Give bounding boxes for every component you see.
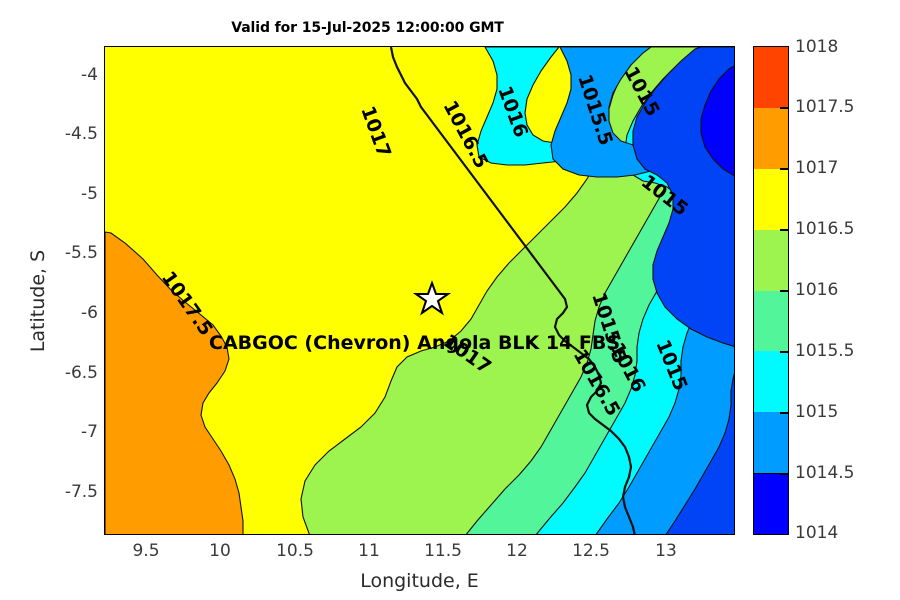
colorbar-tick-label: 1016.5 <box>795 219 854 239</box>
colorbar-tick-label: 1017 <box>795 158 838 178</box>
x-tick: 9.5 <box>132 541 159 561</box>
colorbar-tick <box>780 290 789 292</box>
y-axis-ticks: -4 -4.5 -5 -5.5 -6 -6.5 -7 -7.5 <box>0 0 98 600</box>
colorbar-segment <box>754 108 788 169</box>
colorbar-segment <box>754 230 788 291</box>
colorbar-tick-label: 1017.5 <box>795 97 854 117</box>
colorbar-tick <box>780 107 789 109</box>
colorbar-tick <box>780 351 789 353</box>
colorbar-segment <box>754 351 788 412</box>
colorbar-tick <box>780 168 789 170</box>
x-tick: 13 <box>655 541 677 561</box>
colorbar-tick-label: 1014.5 <box>795 463 854 483</box>
colorbar-tick <box>780 473 789 475</box>
x-tick: 12.5 <box>572 541 610 561</box>
station-label: CABGOC (Chevron) Angola BLK 14 FBS <box>209 332 620 354</box>
colorbar-segment <box>754 412 788 473</box>
colorbar-tick <box>780 229 789 231</box>
y-axis-title: Latitude, S <box>27 171 49 431</box>
page-title: Valid for 15-Jul-2025 12:00:00 GMT <box>0 20 735 36</box>
y-tick: -4 <box>81 65 98 85</box>
x-tick: 11 <box>358 541 380 561</box>
x-axis-title: Longitude, E <box>104 570 735 592</box>
colorbar-tick-label: 1014 <box>795 523 838 543</box>
contour-field: 1017 1016.5 1016 1015.5 1015 1015 1017.5… <box>105 47 735 535</box>
y-tick: -6 <box>81 303 98 323</box>
x-tick: 12 <box>506 541 528 561</box>
y-tick: -7 <box>81 422 98 442</box>
pressure-contour-map: Valid for 15-Jul-2025 12:00:00 GMT <box>0 0 900 600</box>
y-tick: -5 <box>81 184 98 204</box>
x-tick: 10 <box>209 541 231 561</box>
colorbar-tick-label: 1015 <box>795 402 838 422</box>
y-tick: -7.5 <box>65 482 98 502</box>
colorbar-segment <box>754 291 788 352</box>
colorbar-tick <box>780 412 789 414</box>
colorbar-tick-label: 1016 <box>795 280 838 300</box>
colorbar-segment <box>753 473 789 535</box>
contour-plot-area[interactable]: 1017 1016.5 1016 1015.5 1015 1015 1017.5… <box>104 46 735 535</box>
colorbar-segment <box>754 47 788 108</box>
y-tick: -5.5 <box>65 243 98 263</box>
colorbar-segment <box>754 169 788 230</box>
y-tick: -4.5 <box>65 124 98 144</box>
x-tick: 10.5 <box>276 541 314 561</box>
y-tick: -6.5 <box>65 363 98 383</box>
colorbar-tick-label: 1018 <box>795 37 838 57</box>
x-tick: 11.5 <box>424 541 462 561</box>
colorbar-tick-label: 1015.5 <box>795 341 854 361</box>
